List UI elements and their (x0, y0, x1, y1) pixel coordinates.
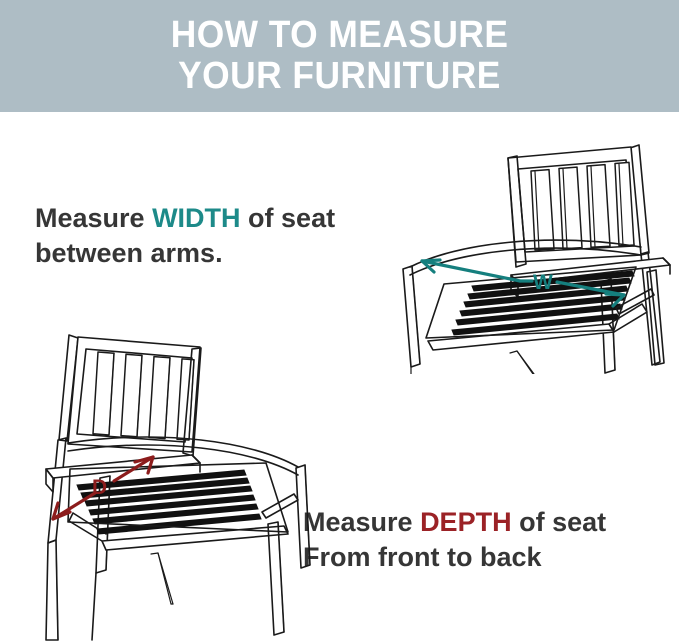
width-dimension-label: W (533, 271, 553, 294)
depth-callout-line-1: Measure DEPTH of seat (303, 505, 606, 540)
depth-callout-prefix: Measure (303, 507, 420, 537)
header-banner: HOW TO MEASURE YOUR FURNITURE (0, 0, 679, 112)
depth-callout-line-2: From front to back (303, 540, 606, 575)
chair-depth-diagram: D (22, 322, 312, 642)
width-callout-prefix: Measure (35, 203, 152, 233)
depth-callout-suffix: of seat (512, 507, 607, 537)
width-callout-line-1: Measure WIDTH of seat (35, 201, 335, 236)
width-keyword: WIDTH (152, 203, 240, 233)
depth-keyword: DEPTH (420, 507, 512, 537)
width-callout-text: Measure WIDTH of seat between arms. (35, 201, 335, 270)
width-callout-line-2: between arms. (35, 236, 335, 271)
content-area: Measure WIDTH of seat between arms. Meas… (0, 112, 679, 642)
page-title-line-2: YOUR FURNITURE (178, 56, 501, 97)
page-title-line-1: HOW TO MEASURE (171, 15, 509, 56)
depth-callout-text: Measure DEPTH of seat From front to back (303, 505, 606, 574)
width-callout-suffix: of seat (241, 203, 336, 233)
chair-width-diagram: W (398, 134, 673, 374)
depth-dimension-label: D (92, 476, 107, 499)
